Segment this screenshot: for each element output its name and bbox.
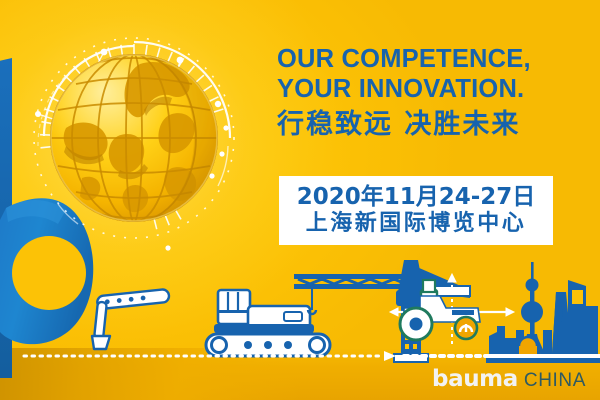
headline-chinese: 行稳致远 决胜未来	[277, 108, 577, 142]
bauma-china-logo: bauma CHINA	[432, 366, 586, 394]
headline-line1: OUR COMPETENCE,	[277, 44, 577, 74]
machinery-scene	[0, 250, 600, 370]
event-venue: 上海新国际博览中心	[306, 211, 527, 237]
headline-line2: YOUR INNOVATION.	[277, 74, 577, 104]
logo-bauma-text: bauma	[432, 366, 518, 392]
logo-china-text: CHINA	[524, 370, 586, 392]
excavator-icon	[92, 289, 330, 356]
event-date: 2020年11月24-27日	[297, 184, 536, 210]
headline-block: OUR COMPETENCE, YOUR INNOVATION. 行稳致远 决胜…	[277, 44, 577, 142]
golden-globe-icon	[22, 18, 246, 254]
event-info-box: 2020年11月24-27日 上海新国际博览中心	[279, 176, 553, 245]
bauma-china-poster: OUR COMPETENCE, YOUR INNOVATION. 行稳致远 决胜…	[0, 0, 600, 400]
